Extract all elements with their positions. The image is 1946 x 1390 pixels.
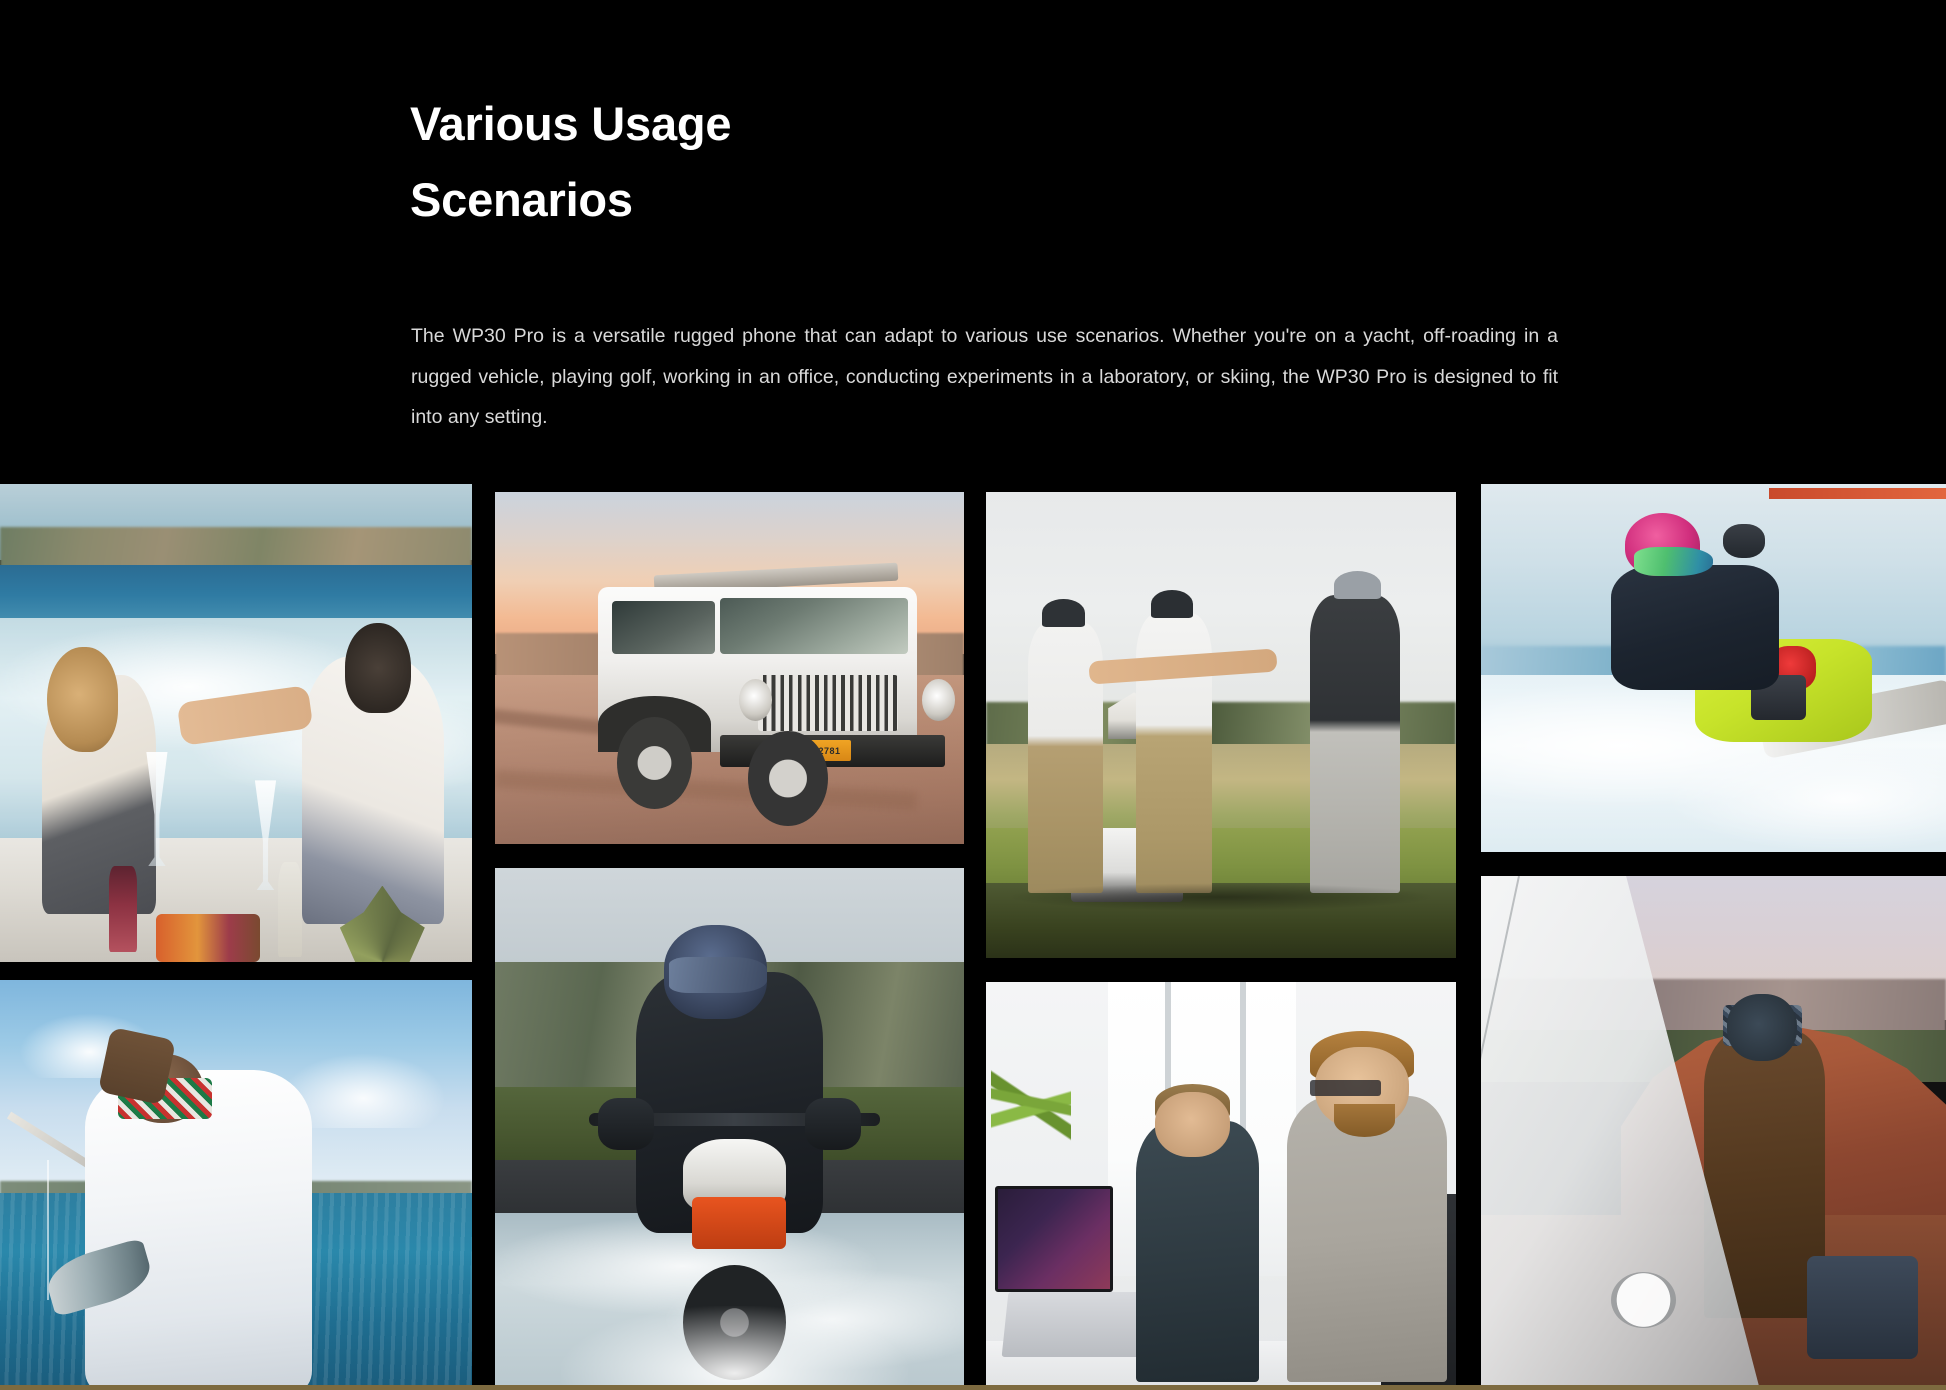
golf-scene-image <box>986 492 1456 958</box>
office-scene-image <box>986 982 1456 1390</box>
fishing-scene-image <box>0 980 472 1390</box>
tent-camping-scene-image <box>1481 876 1946 1390</box>
gallery-photo-fishing[interactable] <box>0 980 472 1390</box>
motocross-scene-image <box>495 868 964 1390</box>
gallery-photo-tent[interactable] <box>1481 876 1946 1390</box>
bottom-accent-rule <box>0 1385 1946 1390</box>
gallery-photo-office[interactable] <box>986 982 1456 1390</box>
page-title: Various Usage Scenarios <box>410 86 1310 238</box>
gallery-photo-snowboard[interactable] <box>1481 484 1946 852</box>
jeep-offroad-scene-image: JRV-2781 <box>495 492 964 844</box>
usage-scenario-gallery: JRV-2781 <box>0 484 1946 1390</box>
gallery-photo-jeep[interactable]: JRV-2781 <box>495 492 964 844</box>
section-header: Various Usage Scenarios The WP30 Pro is … <box>0 0 1946 478</box>
page-title-line-1: Various Usage <box>410 86 1310 162</box>
yacht-scene-image <box>0 484 472 962</box>
page-title-line-2: Scenarios <box>410 162 1310 238</box>
gallery-photo-motocross[interactable] <box>495 868 964 1390</box>
gallery-photo-golf[interactable] <box>986 492 1456 958</box>
section-description: The WP30 Pro is a versatile rugged phone… <box>411 316 1558 438</box>
gallery-photo-yacht[interactable] <box>0 484 472 962</box>
snowboard-scene-image <box>1481 484 1946 852</box>
